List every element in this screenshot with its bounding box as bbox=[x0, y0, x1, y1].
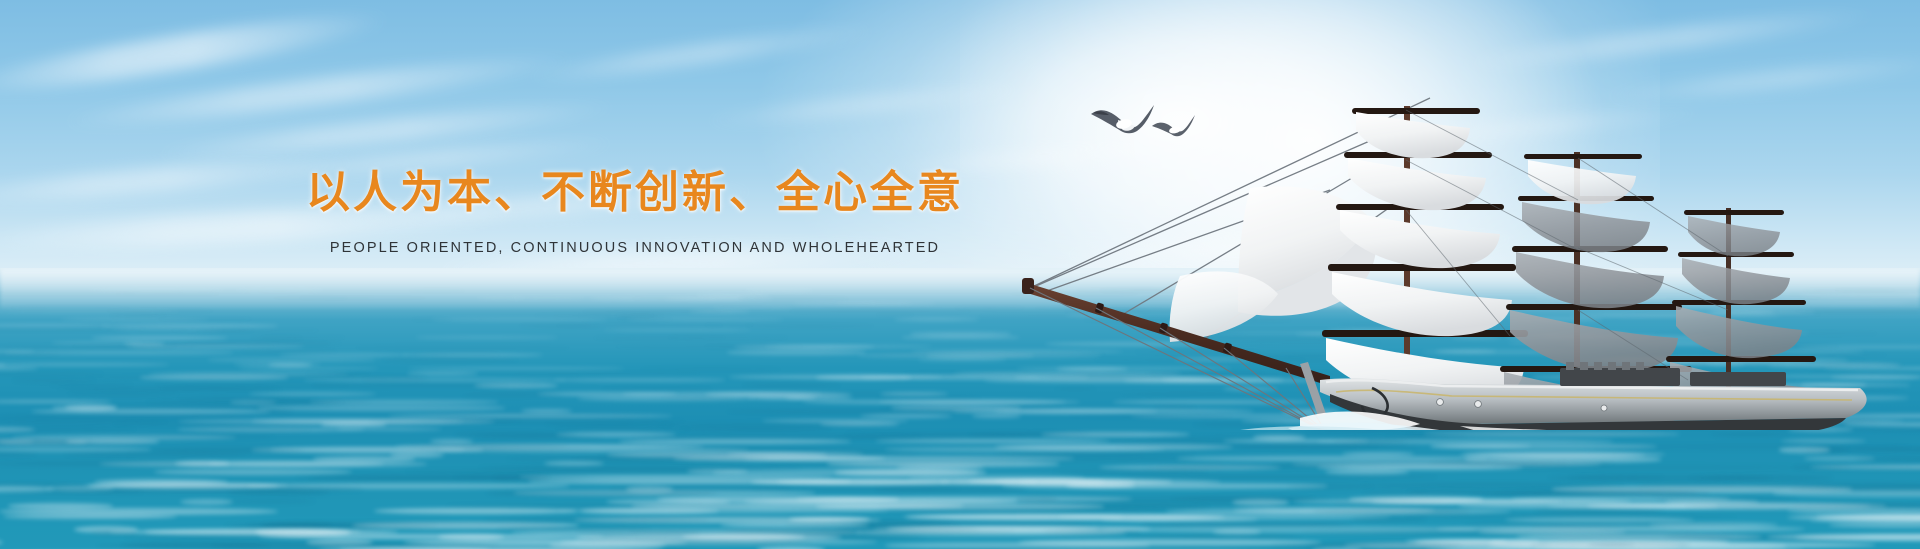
wave-streak bbox=[61, 318, 209, 321]
wave-streak bbox=[431, 318, 608, 321]
wave-streak bbox=[1767, 534, 1920, 541]
wave-streak bbox=[1333, 499, 1442, 504]
wave-streak bbox=[0, 483, 89, 488]
wave-streak bbox=[666, 336, 790, 339]
wave-streak bbox=[146, 400, 344, 405]
wave-streak bbox=[556, 427, 690, 432]
wave-streak bbox=[876, 508, 1165, 514]
wave-streak bbox=[461, 392, 564, 397]
wave-streak bbox=[545, 422, 674, 427]
wave-streak bbox=[177, 427, 366, 432]
wave-streak bbox=[1238, 444, 1419, 449]
wave-streak bbox=[321, 422, 386, 426]
wave-streak bbox=[657, 496, 899, 503]
wave-streak bbox=[554, 378, 725, 381]
wave-streak bbox=[852, 522, 1090, 528]
wave-streak bbox=[744, 499, 1019, 505]
wave-streak bbox=[0, 329, 190, 332]
wave-streak bbox=[313, 456, 415, 461]
wave-streak bbox=[90, 529, 137, 536]
wave-streak bbox=[713, 469, 978, 475]
wave-streak bbox=[1059, 514, 1390, 521]
wave-streak bbox=[918, 358, 1006, 361]
wave-streak bbox=[8, 503, 113, 509]
wave-streak bbox=[860, 414, 952, 418]
wave-streak bbox=[454, 432, 576, 437]
wave-streak bbox=[0, 439, 150, 445]
wave-streak bbox=[1002, 483, 1327, 488]
wave-streak bbox=[310, 400, 498, 404]
wave-streak bbox=[720, 522, 869, 528]
wave-streak bbox=[995, 444, 1234, 450]
wave-streak bbox=[512, 529, 862, 535]
wave-streak bbox=[1385, 435, 1467, 439]
wave-streak bbox=[1016, 496, 1059, 503]
wave-streak bbox=[1821, 465, 1920, 470]
wave-streak bbox=[478, 465, 802, 471]
wave-streak bbox=[1407, 490, 1487, 495]
wave-streak bbox=[213, 542, 429, 548]
wave-streak bbox=[754, 486, 960, 491]
wave-streak bbox=[665, 447, 902, 452]
wave-streak bbox=[12, 378, 96, 383]
wave-streak bbox=[744, 456, 1074, 461]
wave-streak bbox=[228, 490, 329, 496]
wave-streak bbox=[336, 427, 442, 431]
wave-streak bbox=[58, 387, 282, 391]
wave-streak bbox=[1171, 496, 1315, 501]
wave-streak bbox=[615, 314, 664, 318]
wave-streak bbox=[155, 383, 348, 388]
wave-streak bbox=[631, 435, 922, 439]
wave-streak bbox=[395, 444, 704, 449]
wave-streak bbox=[312, 383, 541, 388]
wave-streak bbox=[1463, 452, 1665, 458]
wave-streak bbox=[0, 414, 253, 419]
wave-streak bbox=[234, 363, 321, 366]
wave-streak bbox=[1637, 483, 1734, 489]
wave-streak bbox=[0, 324, 111, 327]
wave-streak bbox=[447, 503, 750, 509]
wave-streak bbox=[1288, 483, 1372, 489]
wave-streak bbox=[148, 372, 349, 376]
wave-streak bbox=[1537, 534, 1864, 541]
wave-streak bbox=[230, 400, 276, 405]
wave-streak bbox=[1099, 465, 1282, 471]
wave-streak bbox=[111, 435, 276, 439]
wave-streak bbox=[734, 345, 875, 349]
wave-streak bbox=[797, 496, 1132, 502]
wave-streak bbox=[0, 439, 87, 445]
wave-streak bbox=[1351, 517, 1426, 523]
wave-streak bbox=[369, 419, 522, 423]
wave-streak bbox=[682, 534, 804, 540]
wave-streak bbox=[1656, 496, 1797, 502]
wave-streak bbox=[0, 447, 151, 452]
wave-streak bbox=[1810, 465, 1920, 470]
wave-streak bbox=[405, 469, 735, 474]
wave-streak bbox=[1535, 542, 1787, 549]
wave-streak bbox=[64, 452, 250, 457]
wave-streak bbox=[1157, 465, 1348, 470]
wave-streak bbox=[411, 318, 453, 321]
wave-streak bbox=[52, 486, 362, 492]
wave-streak bbox=[1333, 439, 1406, 444]
wave-streak bbox=[743, 383, 840, 387]
wave-streak bbox=[777, 479, 1036, 485]
wave-streak bbox=[197, 329, 254, 333]
wave-streak bbox=[1253, 435, 1305, 439]
wave-streak bbox=[0, 508, 278, 515]
wave-streak bbox=[875, 486, 1025, 492]
wave-streak bbox=[0, 439, 94, 445]
wave-streak bbox=[97, 542, 500, 548]
wave-streak bbox=[1066, 483, 1135, 488]
wave-streak bbox=[1363, 490, 1428, 496]
wave-streak bbox=[1318, 439, 1614, 443]
wave-streak bbox=[67, 392, 181, 396]
wave-streak bbox=[156, 318, 254, 320]
wave-streak bbox=[626, 486, 674, 492]
wave-streak bbox=[1804, 456, 1875, 461]
wave-streak bbox=[1493, 465, 1820, 470]
wave-streak bbox=[880, 392, 948, 396]
wave-streak bbox=[409, 444, 568, 449]
wave-streak bbox=[608, 517, 952, 523]
wave-streak bbox=[1792, 503, 1920, 509]
wave-streak bbox=[1781, 439, 1865, 443]
wave-streak bbox=[105, 310, 214, 312]
wave-streak bbox=[687, 469, 748, 474]
wave-streak bbox=[1531, 526, 1619, 532]
wave-streak bbox=[528, 479, 851, 484]
wave-streak bbox=[1816, 514, 1920, 521]
wave-streak bbox=[407, 367, 625, 370]
wave-streak bbox=[259, 336, 345, 339]
cloud-streak bbox=[520, 19, 879, 89]
wave-streak bbox=[820, 422, 899, 426]
wave-streak bbox=[878, 503, 1210, 509]
wave-streak bbox=[1787, 514, 1920, 521]
wave-streak bbox=[1459, 452, 1646, 458]
wave-streak bbox=[1665, 534, 1733, 540]
wave-streak bbox=[1465, 456, 1661, 462]
wave-streak bbox=[1271, 542, 1551, 548]
wave-streak bbox=[86, 375, 241, 378]
wave-streak bbox=[159, 387, 281, 390]
wave-streak bbox=[180, 499, 234, 505]
wave-streak bbox=[762, 461, 1016, 466]
wave-streak bbox=[1829, 522, 1920, 528]
wave-streak bbox=[1430, 444, 1657, 449]
wave-streak bbox=[91, 336, 228, 340]
wave-streak bbox=[1423, 432, 1680, 436]
wave-streak bbox=[1593, 444, 1911, 450]
wave-streak bbox=[126, 342, 345, 346]
wave-streak bbox=[785, 396, 853, 400]
wave-streak bbox=[1349, 496, 1483, 503]
wave-streak bbox=[306, 539, 373, 546]
wave-streak bbox=[606, 499, 730, 505]
wave-streak bbox=[0, 539, 3, 546]
wave-streak bbox=[1312, 508, 1471, 515]
wave-streak bbox=[140, 375, 289, 380]
wave-streak bbox=[786, 522, 960, 528]
wave-streak bbox=[374, 508, 576, 514]
wave-streak bbox=[1041, 432, 1190, 437]
wave-streak bbox=[662, 396, 734, 400]
wave-streak bbox=[751, 479, 950, 485]
wave-streak bbox=[476, 435, 605, 439]
wave-streak bbox=[390, 452, 443, 458]
wave-streak bbox=[845, 432, 1087, 436]
wave-streak bbox=[632, 503, 963, 508]
wave-streak bbox=[519, 324, 600, 328]
wave-streak bbox=[1485, 490, 1710, 496]
wave-streak bbox=[188, 375, 425, 378]
wave-streak bbox=[61, 405, 333, 410]
wave-streak bbox=[255, 529, 351, 536]
wave-streak bbox=[1689, 475, 1833, 481]
wave-streak bbox=[0, 350, 34, 353]
wave-streak bbox=[145, 529, 398, 534]
wave-streak bbox=[659, 422, 886, 428]
wave-streak bbox=[1018, 539, 1322, 546]
wave-streak bbox=[908, 475, 1084, 481]
wave-streak bbox=[0, 363, 6, 367]
cloud-streak bbox=[60, 46, 579, 135]
wave-streak bbox=[1810, 517, 1920, 524]
wave-streak bbox=[556, 432, 676, 437]
wave-streak bbox=[1466, 522, 1742, 527]
wave-streak bbox=[554, 324, 724, 327]
wave-streak bbox=[1487, 542, 1876, 548]
wave-streak bbox=[1855, 456, 1920, 462]
wave-streak bbox=[438, 534, 504, 541]
wave-streak bbox=[50, 383, 133, 386]
wave-streak bbox=[1429, 461, 1615, 466]
wave-streak bbox=[487, 490, 716, 496]
wave-streak bbox=[305, 372, 371, 375]
wave-streak bbox=[178, 419, 464, 424]
wave-streak bbox=[893, 456, 1193, 461]
wave-streak bbox=[209, 461, 427, 467]
wave-streak bbox=[835, 469, 986, 475]
wave-streak bbox=[271, 447, 464, 451]
wave-streak bbox=[726, 409, 988, 414]
wave-streak bbox=[154, 469, 351, 475]
wave-streak bbox=[356, 345, 569, 349]
wave-streak bbox=[1795, 534, 1920, 541]
wave-streak bbox=[109, 314, 166, 317]
wave-streak bbox=[110, 529, 361, 535]
wave-streak bbox=[52, 405, 117, 410]
wave-streak bbox=[1043, 529, 1141, 535]
wave-streak bbox=[268, 363, 311, 367]
wave-streak bbox=[1552, 486, 1852, 492]
wave-streak bbox=[1101, 517, 1258, 522]
wave-streak bbox=[0, 486, 54, 492]
wave-streak bbox=[968, 432, 1139, 437]
wave-streak bbox=[124, 342, 165, 346]
wave-streak bbox=[1097, 439, 1249, 443]
wave-streak bbox=[765, 345, 932, 348]
wave-streak bbox=[1773, 490, 1920, 496]
wave-streak bbox=[762, 419, 908, 423]
wave-streak bbox=[1548, 503, 1871, 509]
wave-streak bbox=[816, 375, 911, 380]
wave-streak bbox=[607, 452, 827, 458]
wave-streak bbox=[186, 427, 311, 432]
wave-streak bbox=[1165, 508, 1511, 515]
wave-streak bbox=[253, 409, 293, 414]
wave-streak bbox=[238, 367, 379, 370]
wave-streak bbox=[51, 342, 142, 345]
wave-streak bbox=[1530, 542, 1635, 548]
wave-streak bbox=[31, 409, 271, 414]
wave-streak bbox=[1405, 514, 1737, 519]
wave-streak bbox=[150, 447, 304, 453]
wave-streak bbox=[521, 409, 572, 413]
wave-streak bbox=[577, 396, 755, 401]
wave-streak bbox=[894, 318, 979, 321]
wave-streak bbox=[389, 414, 672, 418]
wave-streak bbox=[856, 529, 1126, 536]
wave-streak bbox=[1490, 539, 1540, 546]
wave-streak bbox=[5, 350, 233, 354]
wave-streak bbox=[887, 526, 1150, 532]
wave-streak bbox=[1302, 529, 1700, 536]
wave-streak bbox=[240, 350, 339, 353]
wave-streak bbox=[1361, 483, 1623, 488]
wave-streak bbox=[1148, 435, 1449, 439]
wave-streak bbox=[175, 461, 229, 466]
wave-streak bbox=[560, 539, 877, 545]
wave-streak bbox=[1588, 542, 1690, 548]
wave-streak bbox=[544, 461, 604, 466]
wave-streak bbox=[1803, 447, 1849, 453]
wave-streak bbox=[617, 318, 673, 320]
wave-streak bbox=[896, 465, 984, 471]
wave-streak bbox=[614, 345, 805, 348]
wave-streak bbox=[246, 522, 560, 528]
wave-streak bbox=[128, 345, 305, 348]
wave-streak bbox=[259, 534, 604, 540]
banner-copy: 以人为本、不断创新、全心全意 PEOPLE ORIENTED, CONTINUO… bbox=[0, 156, 1270, 256]
wave-streak bbox=[729, 375, 942, 379]
wave-streak bbox=[703, 324, 755, 326]
wave-streak bbox=[601, 387, 713, 391]
wave-streak bbox=[0, 363, 169, 366]
wave-streak bbox=[413, 353, 501, 356]
wave-streak bbox=[549, 542, 665, 549]
page-title: 以人为本、不断创新、全心全意 bbox=[0, 156, 1270, 220]
wave-streak bbox=[1686, 503, 1920, 509]
wave-streak bbox=[1317, 465, 1523, 471]
wave-streak bbox=[493, 475, 549, 481]
hero-banner: 以人为本、不断创新、全心全意 PEOPLE ORIENTED, CONTINUO… bbox=[0, 0, 1920, 549]
wave-streak bbox=[304, 378, 567, 382]
wave-streak bbox=[816, 503, 1103, 509]
wave-streak bbox=[574, 517, 881, 523]
wave-streak bbox=[1550, 486, 1841, 491]
wave-streak bbox=[2, 490, 143, 495]
wave-streak bbox=[1019, 479, 1221, 485]
wave-streak bbox=[1232, 499, 1288, 506]
wave-streak bbox=[94, 479, 228, 485]
wave-streak bbox=[258, 405, 506, 410]
wave-streak bbox=[673, 456, 885, 461]
wave-streak bbox=[1787, 508, 1920, 514]
wave-streak bbox=[1292, 461, 1601, 467]
wave-streak bbox=[249, 392, 376, 396]
wave-streak bbox=[1548, 475, 1772, 481]
wave-streak bbox=[571, 456, 814, 462]
wave-streak bbox=[748, 396, 816, 401]
wave-streak bbox=[1053, 469, 1207, 474]
wave-streak bbox=[680, 427, 831, 432]
wave-streak bbox=[1018, 503, 1302, 508]
wave-streak bbox=[0, 367, 38, 370]
wave-streak bbox=[0, 329, 115, 332]
wave-streak bbox=[619, 439, 852, 444]
wave-streak bbox=[884, 447, 1165, 452]
wave-streak bbox=[1710, 432, 1790, 437]
wave-streak bbox=[622, 392, 822, 396]
wave-streak bbox=[177, 396, 318, 400]
wave-streak bbox=[1293, 499, 1562, 504]
wave-streak bbox=[514, 490, 816, 495]
wave-streak bbox=[902, 514, 1123, 520]
wave-streak bbox=[125, 534, 332, 540]
wave-streak bbox=[169, 329, 321, 332]
wave-streak bbox=[835, 526, 979, 533]
wave-streak bbox=[537, 392, 677, 396]
wave-streak bbox=[443, 419, 686, 423]
wave-streak bbox=[507, 456, 766, 461]
wave-streak bbox=[875, 439, 1110, 443]
wave-streak bbox=[1437, 526, 1805, 533]
wave-streak bbox=[1308, 542, 1461, 549]
wave-streak bbox=[12, 435, 236, 440]
wave-streak bbox=[46, 486, 114, 491]
wave-streak bbox=[1274, 461, 1567, 466]
wave-streak bbox=[250, 336, 303, 340]
wave-streak bbox=[1342, 452, 1414, 457]
wave-streak bbox=[1344, 542, 1680, 549]
wave-streak bbox=[1505, 517, 1694, 524]
wave-streak bbox=[352, 522, 579, 529]
wave-streak bbox=[704, 345, 780, 349]
wave-streak bbox=[382, 358, 518, 362]
wave-streak bbox=[1588, 503, 1887, 508]
wave-streak bbox=[727, 452, 863, 456]
wave-streak bbox=[1371, 499, 1631, 504]
wave-streak bbox=[112, 422, 324, 426]
wave-streak bbox=[0, 353, 60, 356]
wave-streak bbox=[994, 452, 1196, 457]
wave-streak bbox=[689, 310, 750, 313]
wave-streak bbox=[593, 336, 726, 340]
wave-streak bbox=[519, 475, 833, 480]
seagull-small-icon bbox=[1150, 112, 1200, 142]
wave-streak bbox=[101, 324, 279, 328]
wave-streak bbox=[727, 350, 866, 354]
wave-streak bbox=[1103, 526, 1477, 533]
wave-streak bbox=[1120, 475, 1437, 480]
wave-streak bbox=[89, 483, 279, 489]
wave-streak bbox=[835, 435, 1026, 440]
